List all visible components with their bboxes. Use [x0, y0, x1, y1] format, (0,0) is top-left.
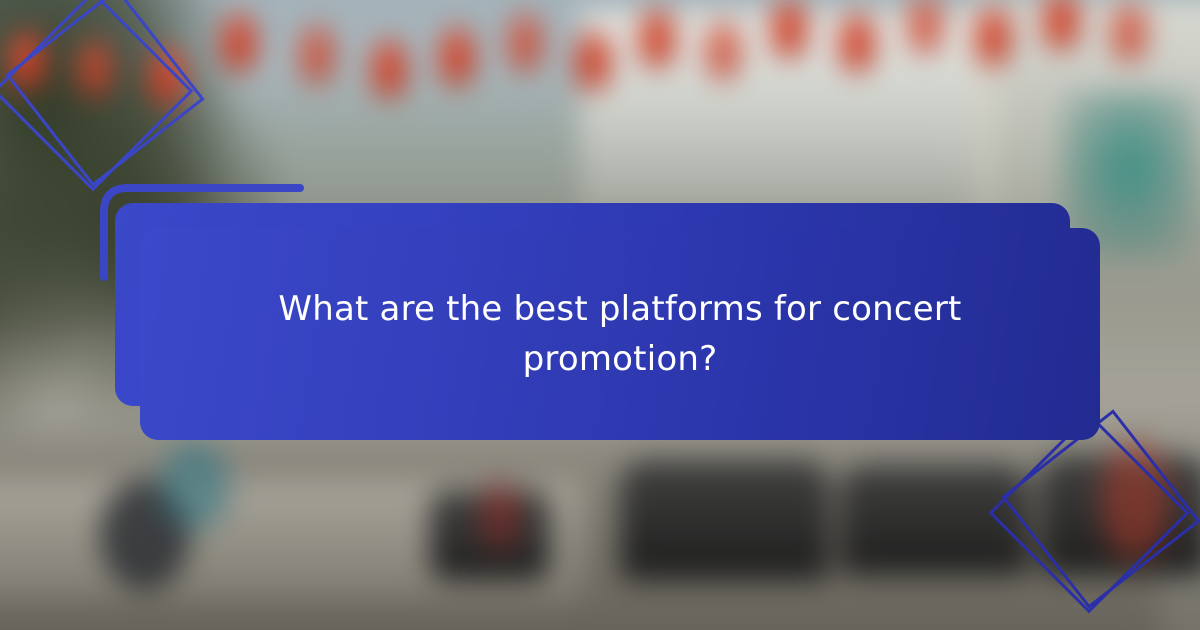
lantern-icon: [840, 14, 874, 72]
lantern-icon: [908, 0, 942, 54]
lantern-icon: [706, 22, 740, 80]
lantern-icon: [640, 10, 674, 68]
lantern-icon: [440, 28, 474, 86]
lantern-icon: [772, 0, 806, 58]
graphic-canvas: What are the best platforms for concert …: [0, 0, 1200, 630]
background-person: [160, 440, 230, 530]
lantern-icon: [78, 40, 112, 98]
background-vehicle: [620, 460, 830, 580]
lantern-icon: [976, 8, 1010, 66]
lantern-icon: [10, 32, 44, 90]
question-text: What are the best platforms for concert …: [270, 284, 970, 385]
lantern-icon: [300, 26, 334, 84]
lantern-icon: [1044, 0, 1078, 50]
background-vehicle: [840, 465, 1030, 575]
lantern-icon: [1112, 4, 1146, 62]
question-card[interactable]: What are the best platforms for concert …: [140, 228, 1100, 440]
lantern-icon: [150, 48, 184, 106]
lantern-icon: [222, 14, 256, 72]
lantern-icon: [508, 14, 542, 72]
lantern-icon: [576, 32, 610, 90]
lantern-icon: [372, 40, 406, 98]
background-person: [480, 480, 520, 550]
background-person: [1100, 440, 1170, 560]
